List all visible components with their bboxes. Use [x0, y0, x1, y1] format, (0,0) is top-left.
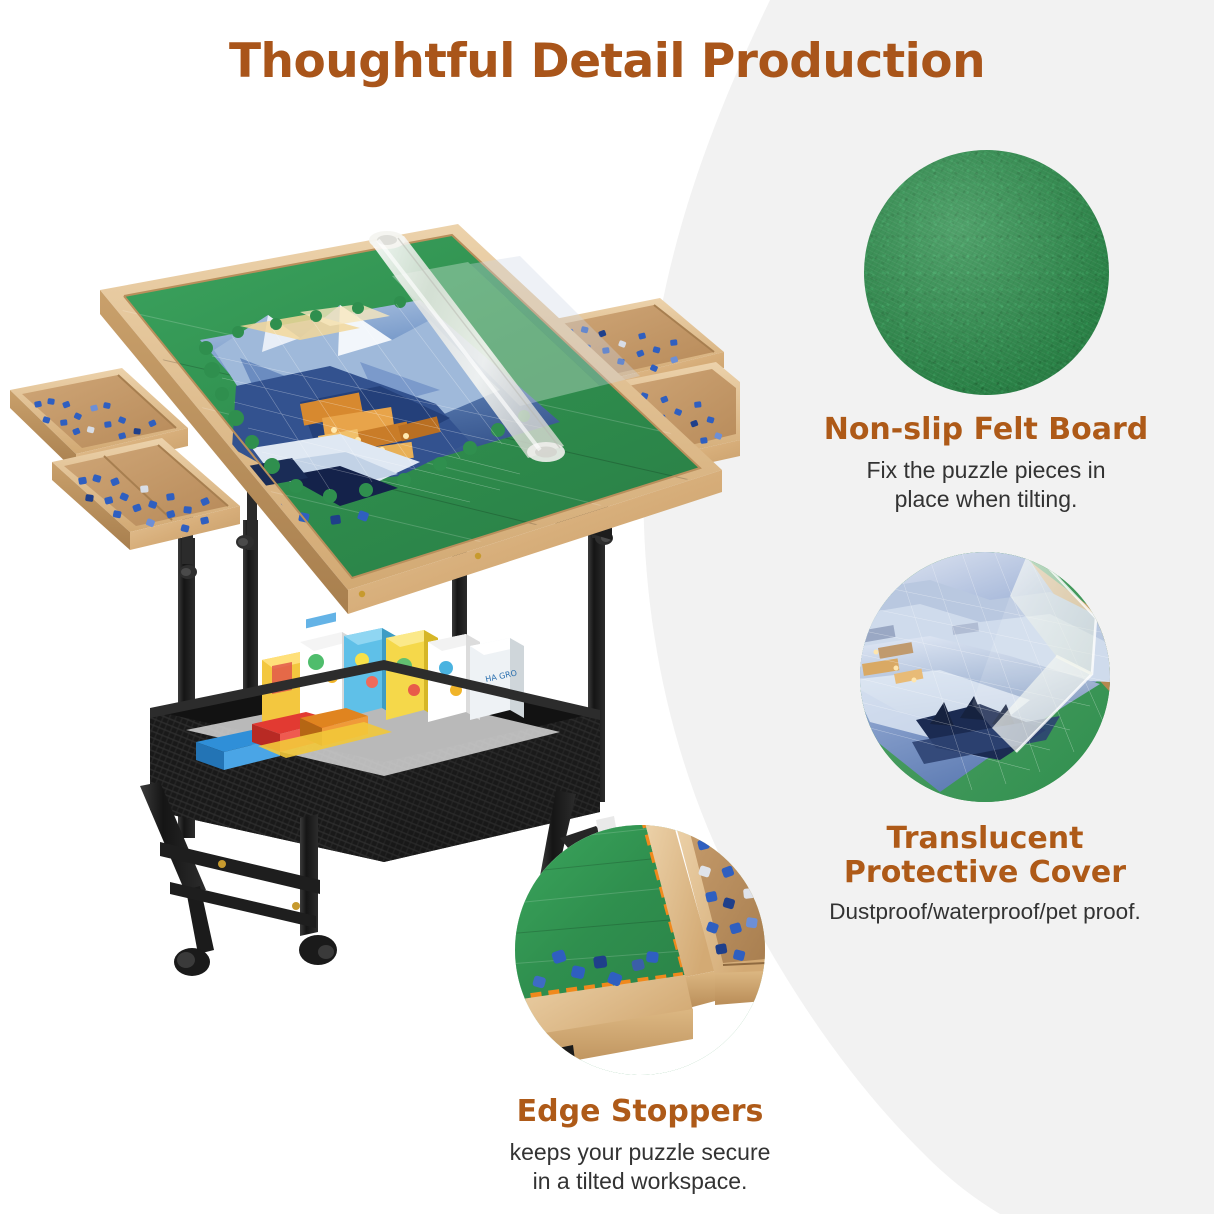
feature-felt-subtext: Fix the puzzle pieces in place when tilt… — [760, 456, 1212, 514]
feature-edge-subtext: keeps your puzzle secure in a tilted wor… — [400, 1138, 880, 1196]
infographic-canvas: Thoughtful Detail Production — [0, 0, 1214, 1214]
edge-circle-wrap — [400, 825, 880, 1075]
edge-stopper-closeup-icon — [515, 825, 765, 1075]
cover-circle-wrap — [755, 552, 1214, 802]
feature-edge-subtext-line1: keeps your puzzle secure — [400, 1138, 880, 1167]
feature-edge-subtext-line2: in a tilted workspace. — [400, 1167, 880, 1196]
feature-felt-board: Non-slip Felt Board Fix the puzzle piece… — [760, 150, 1212, 514]
felt-circle-wrap — [760, 150, 1212, 395]
feature-edge-heading: Edge Stoppers — [400, 1095, 880, 1129]
feature-felt-subtext-line2: place when tilting. — [760, 485, 1212, 514]
feature-felt-subtext-line1: Fix the puzzle pieces in — [760, 456, 1212, 485]
translucent-cover-photo-icon — [860, 552, 1110, 802]
feature-edge-stoppers: Edge Stoppers keeps your puzzle secure i… — [400, 825, 880, 1196]
page-title: Thoughtful Detail Production — [0, 34, 1214, 89]
feature-felt-heading: Non-slip Felt Board — [760, 413, 1212, 447]
green-felt-swatch-icon — [864, 150, 1109, 395]
